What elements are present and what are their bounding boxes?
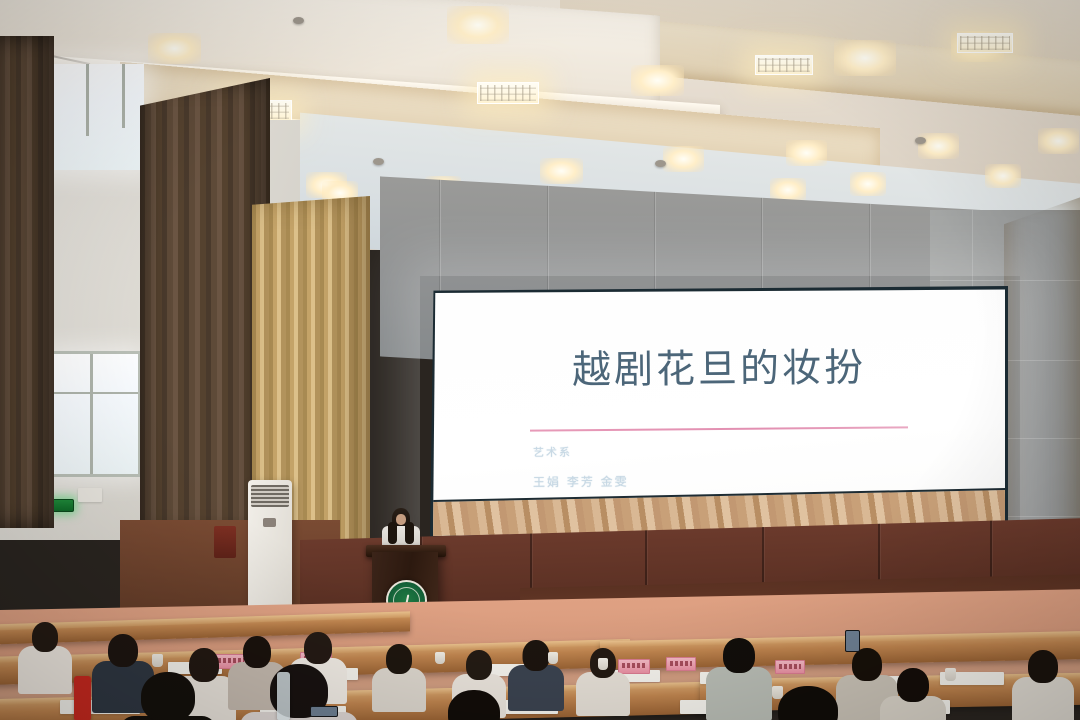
attendee-left-1 (18, 622, 72, 700)
audience-head (386, 644, 412, 674)
downlight-icon (985, 164, 1021, 188)
ceiling-panel-light (477, 82, 539, 104)
projection-screen: 越剧花旦的妆扮 艺术系 王娟 李芳 金雯 (433, 289, 1005, 537)
paper-cup-6 (945, 668, 956, 681)
slide: 越剧花旦的妆扮 艺术系 王娟 李芳 金雯 (433, 289, 1005, 537)
audience-head (108, 634, 138, 667)
water-bottle (277, 672, 290, 720)
audience-head (304, 632, 332, 664)
attendee-center-3 (372, 644, 426, 718)
audience-head (141, 672, 195, 720)
audience-head (1028, 650, 1058, 683)
downlight-icon (447, 6, 509, 44)
ceiling-panel-light (755, 55, 813, 75)
downlight-icon (148, 33, 201, 64)
ceiling-panel-light (957, 33, 1013, 53)
audience-head (32, 622, 58, 652)
smoke-detector-icon (915, 137, 926, 144)
smoke-detector-icon (373, 158, 384, 165)
audience-torso (18, 646, 72, 694)
window-sill-items (78, 488, 102, 502)
attendee-right-3 (880, 668, 946, 720)
window-mullion (50, 392, 138, 394)
audience-head (466, 650, 492, 680)
attendee-front-3 (430, 690, 518, 720)
desk-name-card (775, 660, 805, 674)
audience-torso (1012, 677, 1074, 720)
downlight-icon (850, 172, 886, 196)
paper-cup-3 (548, 652, 558, 664)
paper-cup-5 (772, 686, 783, 699)
air-conditioner-unit (248, 480, 292, 620)
window-frame (47, 351, 141, 477)
audience-head (523, 640, 550, 671)
curtain-dark-left (0, 36, 54, 528)
smoke-detector-icon (655, 160, 666, 167)
audience-torso (372, 668, 426, 712)
attendee-right-4 (1012, 650, 1074, 720)
raised-phone (845, 630, 860, 652)
audience-torso (576, 672, 630, 716)
window-mullion (86, 64, 89, 136)
downlight-icon (786, 140, 827, 166)
phone-on-desk (310, 706, 338, 717)
downlight-icon (834, 40, 896, 76)
audience-head (852, 648, 882, 681)
downlight-icon (1038, 128, 1079, 154)
wall-control-box (214, 526, 236, 558)
attendee-front-1 (120, 672, 216, 720)
lecture-hall-photo: 越剧花旦的妆扮 艺术系 王娟 李芳 金雯 (0, 0, 1080, 720)
paper-cup-4 (598, 658, 608, 670)
downlight-icon (663, 146, 704, 172)
curtain-dark-center (140, 78, 270, 538)
slide-title: 越剧花旦的妆扮 (433, 346, 1005, 394)
slide-divider-rule (530, 426, 908, 431)
slide-subtitle-department: 艺术系 (532, 444, 571, 460)
audience-head (778, 686, 838, 720)
paper-cup-1 (152, 654, 163, 667)
red-thermos (74, 676, 91, 720)
attendee-front-2 (240, 664, 358, 720)
audience-head (448, 690, 500, 720)
slide-subtitle-authors: 王娟 李芳 金雯 (532, 472, 628, 490)
audience-head (723, 638, 755, 673)
downlight-icon (540, 158, 583, 184)
window-mullion (90, 354, 93, 474)
audience-head (897, 668, 929, 702)
downlight-icon (631, 65, 684, 96)
desk-name-card (666, 657, 696, 671)
paper-cup-2 (435, 652, 445, 664)
window-mullion (122, 64, 125, 128)
smoke-detector-icon (293, 17, 304, 24)
